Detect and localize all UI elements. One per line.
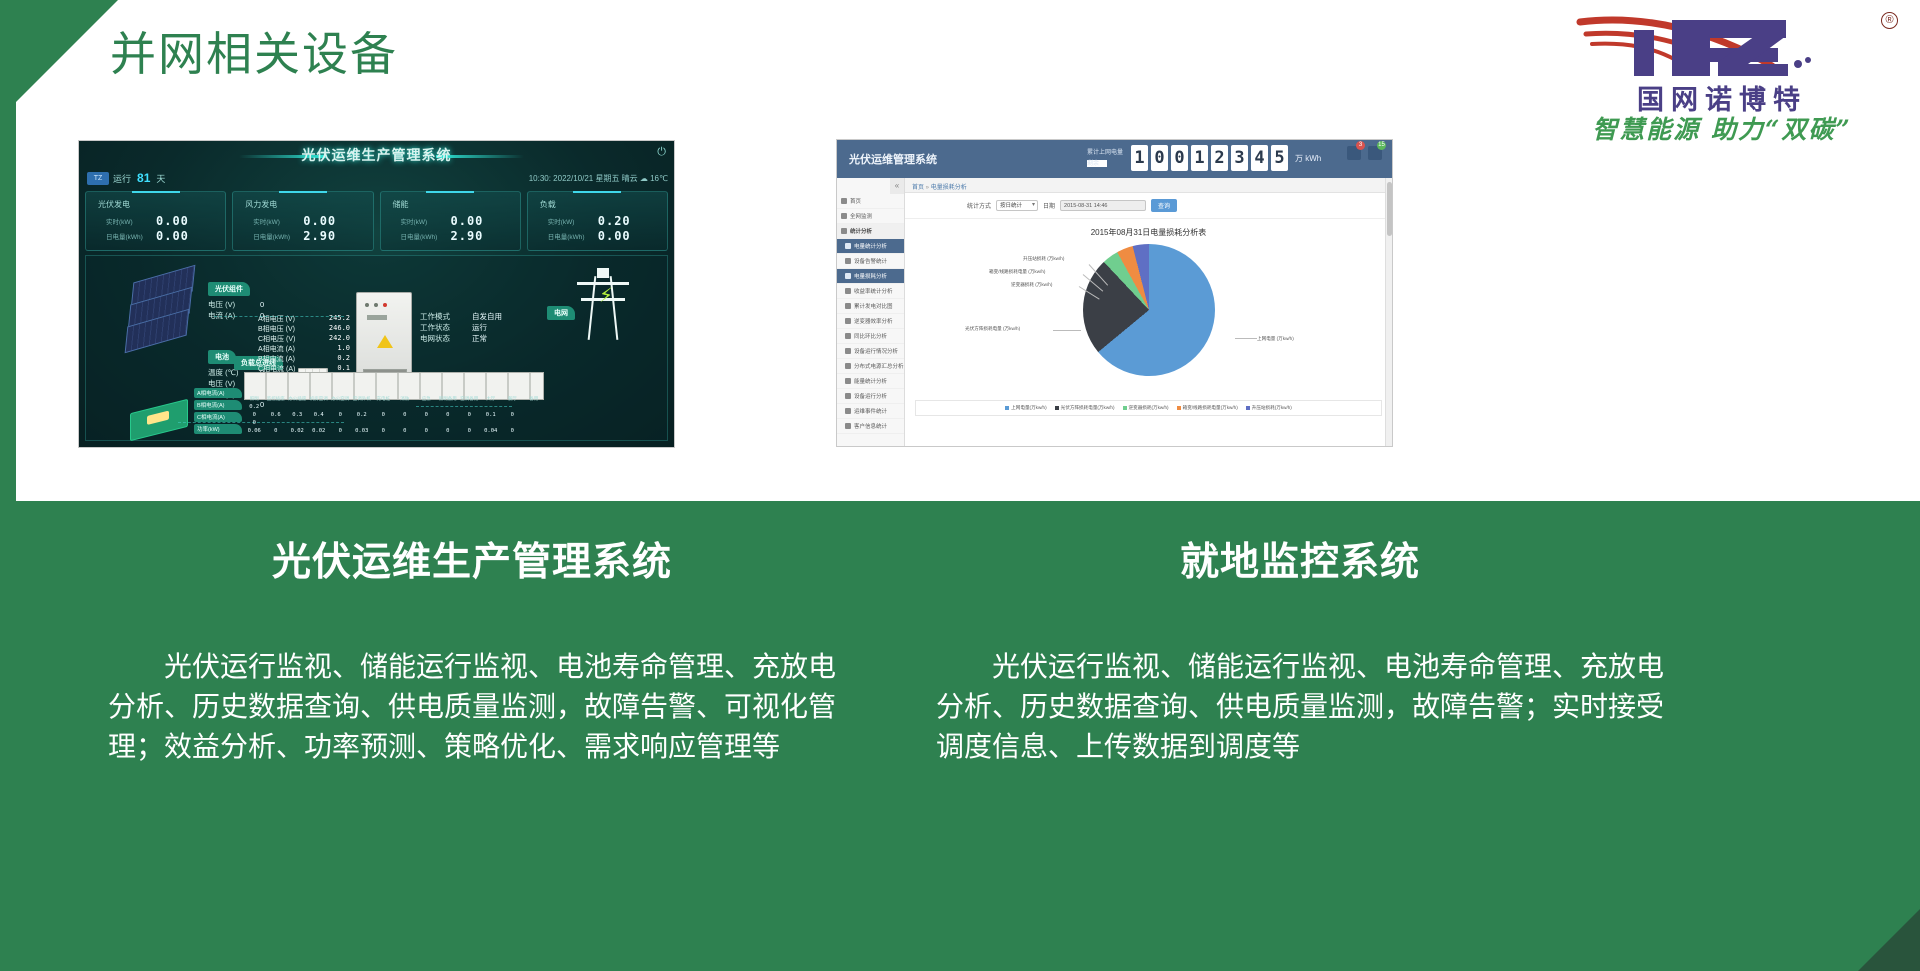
- bullet-icon: [845, 333, 851, 339]
- sidebar-item-label: 全网监测: [850, 212, 872, 220]
- home-icon: [841, 198, 847, 204]
- bottom-column-body: 光伏运行监视、储能运行监视、电池寿命管理、充放电分析、历史数据查询、供电质量监测…: [72, 647, 872, 766]
- branch-cell: [373, 404, 394, 410]
- branch-cell: 0.04: [481, 428, 502, 434]
- sidebar-item-label: 累计发电对比图: [854, 302, 893, 310]
- sidebar-item-home[interactable]: 首页: [837, 194, 904, 209]
- legend-swatch: [1246, 406, 1250, 410]
- chart-legend: 上网电量(万kw/h) 光伏方阵损耗电量(万kw/h) 逆变器损耗(万kw/h)…: [915, 400, 1382, 416]
- counter-unit: 万 kWh: [1295, 153, 1321, 164]
- sidebar-item-label: 收益率统计分析: [854, 287, 893, 295]
- branch-table-row: 0 0.6 0.3 0.4 0 0.2 0 0 0 0 0 0.1 0: [244, 412, 544, 418]
- kpi-value: 0.00: [156, 229, 189, 243]
- branch-cell: [395, 404, 416, 410]
- legend-item[interactable]: 逆变器损耗(万kw/h): [1123, 405, 1169, 411]
- branch-cell: 0: [502, 412, 523, 418]
- sidebar-item-label: 设备告警统计: [854, 257, 887, 265]
- bullet-icon: [845, 288, 851, 294]
- sidebar: « 首页 全网监测 统计分析: [837, 178, 905, 446]
- brand-chip: TZ: [87, 172, 109, 185]
- kpi-row: 实时(kW) 0.00: [253, 214, 372, 228]
- branch-cell: [438, 404, 459, 410]
- legend-swatch: [1123, 406, 1127, 410]
- branch-cell: 0: [459, 412, 480, 418]
- gv-key: C相电压 (V): [258, 334, 316, 344]
- counter-digit: 1: [1191, 145, 1208, 171]
- registered-trademark-icon: ®: [1881, 12, 1898, 29]
- scada-dashboard: 光伏运维生产管理系统 ⏻ TZ 运行 81 天 10:30: 2022/10/2…: [79, 141, 674, 447]
- screenshot-pv-scada: 光伏运维生产管理系统 ⏻ TZ 运行 81 天 10:30: 2022/10/2…: [78, 140, 675, 448]
- sidebar-item-label: 逆变器效率分析: [854, 317, 893, 325]
- counter-digit: 0: [1151, 145, 1168, 171]
- gv-value: 246.0: [324, 324, 350, 334]
- kpi-label: 实时(kW): [548, 216, 592, 226]
- legend-item[interactable]: 上网电量(万kw/h): [1005, 405, 1046, 411]
- kpi-card[interactable]: 风力发电 实时(kW) 0.00 日电量(kWh) 2.90: [232, 191, 373, 251]
- leader-line: [1053, 330, 1081, 331]
- tag-row: 电网状态 正常: [420, 333, 502, 344]
- branch-cell: [352, 420, 373, 426]
- bottom-column-left: 光伏运维生产管理系统 光伏运行监视、储能运行监视、电池寿命管理、充放电分析、历史…: [72, 531, 872, 766]
- tag-key: 工作状态: [420, 322, 468, 333]
- kpi-card-title: 负载: [540, 199, 667, 210]
- screenshot-pv-webapp: 光伏运维管理系统 累计上网电量 剩余 1 0 0 1 2 3 4 5: [836, 139, 1393, 447]
- kpi-row: 日电量(kWh) 0.00: [106, 229, 225, 243]
- bullet-icon: [845, 393, 851, 399]
- branch-cell: [524, 420, 545, 426]
- inverter-status-rows: 工作模式 自发自用 工作状态 运行 电网状态 正常: [420, 311, 502, 344]
- webapp-brand: 光伏运维管理系统: [849, 151, 937, 167]
- branch-cell: 0: [395, 412, 416, 418]
- warning-triangle-icon: [377, 335, 393, 348]
- branch-cell: [481, 404, 502, 410]
- branch-cell: [524, 428, 545, 434]
- kpi-card[interactable]: 储能 实时(kW) 0.00 日电量(kWh) 2.90: [380, 191, 521, 251]
- message-icon[interactable]: 3: [1347, 146, 1361, 160]
- legend-label: 逆变器损耗(万kw/h): [1129, 405, 1169, 411]
- clock-weather: 10:30: 2022/10/21 星期五 晴云 ☁ 16℃: [529, 173, 668, 184]
- kpi-row: 实时(kW) 0.00: [401, 214, 520, 228]
- tag-key: 工作模式: [420, 311, 468, 322]
- kpi-row: 实时(kW) 0.20: [548, 214, 667, 228]
- tag-value: 0: [260, 300, 264, 309]
- gv-row: A相电流 (A) 1.0: [258, 344, 350, 354]
- branch-table-row: 0.06 0 0.02 0.02 0 0.03 0 0 0 0 0 0.04 0: [244, 428, 544, 434]
- decorative-bottom-right-corner: [1858, 909, 1920, 971]
- kpi-value: 2.90: [303, 229, 336, 243]
- branch-header-cell: 备用: [524, 396, 545, 402]
- sidebar-item-energy-stats[interactable]: 电量统计分析: [837, 239, 904, 254]
- header-icon-group: 3 15: [1347, 146, 1382, 160]
- energy-counter: 累计上网电量 剩余 1 0 0 1 2 3 4 5 万 kWh: [1087, 145, 1321, 171]
- sidebar-item-label: 分布式电源汇总分析: [854, 362, 904, 370]
- bullet-icon: [845, 303, 851, 309]
- run-days-suffix: 天: [156, 172, 165, 185]
- counter-label: 累计上网电量 剩余: [1087, 149, 1127, 166]
- kpi-label: 实时(kW): [401, 216, 445, 226]
- branch-cell: 0: [438, 428, 459, 434]
- bottom-column-body: 光伏运行监视、储能运行监视、电池寿命管理、充放电分析、历史数据查询、供电质量监测…: [900, 647, 1700, 766]
- pie-label-upstream: 升压站损耗 (万kw/h): [1023, 256, 1064, 262]
- bottom-column-title: 就地监控系统: [900, 531, 1700, 587]
- branch-cell: [524, 412, 545, 418]
- branch-header-cell: 空调外机: [352, 396, 373, 402]
- bullet-icon: [845, 378, 851, 384]
- kpi-label: 日电量(kWh): [548, 231, 592, 241]
- sidebar-item-monitor[interactable]: 全网监测: [837, 209, 904, 224]
- sidebar-item-customer-stats[interactable]: 客户信息统计: [837, 419, 904, 434]
- bullet-icon: [845, 348, 851, 354]
- kpi-card[interactable]: 光伏发电 实时(kW) 0.00 日电量(kWh) 0.00: [85, 191, 226, 251]
- pv-module-tag-title: 光伏组件: [208, 282, 250, 296]
- branch-cell: [352, 404, 373, 410]
- kpi-row: 日电量(kWh) 2.90: [401, 229, 520, 243]
- branch-cell: 0.02: [309, 428, 330, 434]
- inverter-screen: [367, 315, 387, 320]
- branch-header-cell: 应急: [416, 396, 437, 402]
- tag-row: 工作状态 运行: [420, 322, 502, 333]
- gv-row: B相电流 (A) 0.2: [258, 354, 350, 364]
- kpi-card-row: 光伏发电 实时(kW) 0.00 日电量(kWh) 0.00 风力发电 实时(k…: [85, 191, 668, 251]
- branch-cell: 0.06: [244, 428, 265, 434]
- branch-cell: [416, 404, 437, 410]
- branch-table-header: 照明 监控插座 办公插座 机房空调 办公空调 空调外机 充电桩 消防 应急 照明…: [244, 396, 544, 402]
- branch-cell: [416, 420, 437, 426]
- vertical-scrollbar[interactable]: [1385, 178, 1392, 446]
- branch-cell: 0: [373, 412, 394, 418]
- bottom-column-title: 光伏运维生产管理系统: [72, 531, 872, 587]
- legend-swatch: [1005, 406, 1009, 410]
- gv-value: 1.0: [324, 344, 350, 354]
- sidebar-item-label: 能量统计分析: [854, 377, 887, 385]
- branch-cell: 0: [438, 412, 459, 418]
- filter-bar: 统计方式 按日统计 日期 2015-08-31 14:46 查询: [905, 193, 1392, 219]
- connection-line: [214, 316, 344, 317]
- mode-select[interactable]: 按日统计: [996, 200, 1038, 211]
- sidebar-group-statistics[interactable]: 统计分析: [837, 224, 904, 239]
- tag-key: 电网状态: [420, 333, 468, 344]
- company-slogan: 智慧能源 助力“双碳”: [1542, 110, 1902, 146]
- branch-row-labels: A相电流(A) B相电流(A) C相电流(A) 功率(kW): [194, 386, 242, 434]
- kpi-row: 日电量(kWh) 0.00: [548, 229, 667, 243]
- branch-cell: [373, 420, 394, 426]
- main-content: 首页 » 电量损耗分析 统计方式 按日统计 日期 2015-08-31 14:4…: [905, 178, 1392, 446]
- grid-tag-title: 电网: [547, 306, 575, 320]
- sidebar-item-inverter-efficiency[interactable]: 逆变器效率分析: [837, 314, 904, 329]
- query-button[interactable]: 查询: [1151, 199, 1177, 212]
- branch-cell: 0: [416, 412, 437, 418]
- kpi-value: 0.00: [451, 214, 484, 228]
- branch-cell: 0: [502, 428, 523, 434]
- branch-header-cell: 充电桩: [373, 396, 394, 402]
- kpi-card-title: 储能: [393, 199, 520, 210]
- sidebar-item-device-analysis[interactable]: 设备运行分析: [837, 389, 904, 404]
- tag-row: 电压 (V) 0: [208, 299, 264, 310]
- scrollbar-thumb[interactable]: [1387, 182, 1392, 236]
- pie-label-box-line: 箱变/线路损耗电量 (万kw/h): [989, 269, 1045, 275]
- branch-cell: 0: [459, 428, 480, 434]
- branch-cell: [459, 420, 480, 426]
- bullet-icon: [845, 363, 851, 369]
- counter-digit: 3: [1231, 145, 1248, 171]
- branch-header-cell: 空调备用: [459, 396, 480, 402]
- user-icon[interactable]: 15: [1368, 146, 1382, 160]
- kpi-label: 日电量(kWh): [401, 231, 445, 241]
- branch-cell: 0.3: [287, 412, 308, 418]
- branch-table-row: 0.2: [244, 404, 544, 410]
- kpi-card-title: 风力发电: [245, 199, 372, 210]
- pv-module-tag: 光伏组件 电压 (V) 0 电流 (A) 0: [208, 278, 264, 321]
- sidebar-item-label: 统计分析: [850, 227, 872, 235]
- sidebar-item-yield-stats[interactable]: 收益率统计分析: [837, 284, 904, 299]
- breadcrumb: 首页 » 电量损耗分析: [905, 178, 1392, 193]
- branch-cell: [287, 404, 308, 410]
- sidebar-item-label: 电量统计分析: [854, 242, 887, 250]
- branch-cell: 0: [330, 412, 351, 418]
- branch-header-cell: 办公插座: [287, 396, 308, 402]
- branch-header-cell: 照明备用: [438, 396, 459, 402]
- kpi-label: 实时(kW): [106, 216, 150, 226]
- branch-cell: 0.02: [287, 428, 308, 434]
- battery-tag-title: 电池: [208, 350, 236, 364]
- sidebar-item-distributed-summary[interactable]: 分布式电源汇总分析: [837, 359, 904, 374]
- branch-cell: [266, 420, 287, 426]
- branch-cell: [459, 404, 480, 410]
- sidebar-item-yoy-mom[interactable]: 同比环比分析: [837, 329, 904, 344]
- branch-header-cell: 大厅: [481, 396, 502, 402]
- branch-cell: [502, 420, 523, 426]
- date-label: 日期: [1043, 201, 1055, 210]
- branch-row-label: 功率(kW): [194, 424, 242, 434]
- scada-titlebar: 光伏运维生产管理系统 ⏻: [79, 141, 674, 171]
- bullet-icon: [845, 258, 851, 264]
- sidebar-item-label: 电量损耗分析: [854, 272, 887, 280]
- kpi-card[interactable]: 负载 实时(kW) 0.20 日电量(kWh) 0.00: [527, 191, 668, 251]
- run-days-prefix: 运行: [113, 172, 131, 185]
- sidebar-item-energy-analysis[interactable]: 能量统计分析: [837, 374, 904, 389]
- single-line-diagram: 光伏组件 电压 (V) 0 电流 (A) 0 电池: [85, 255, 668, 441]
- run-days-value: 81: [135, 171, 152, 185]
- branch-cell: 0.2: [352, 412, 373, 418]
- kpi-value: 0.20: [598, 214, 631, 228]
- chart-title: 2015年08月31日电量损耗分析表: [905, 227, 1392, 238]
- gv-row: C相电压 (V) 242.0: [258, 334, 350, 344]
- legend-label: 上网电量(万kw/h): [1011, 405, 1046, 411]
- counter-digit: 5: [1271, 145, 1288, 171]
- branch-cell: [330, 420, 351, 426]
- branch-table: 照明 监控插座 办公插座 机房空调 办公空调 空调外机 充电桩 消防 应急 照明…: [244, 396, 544, 434]
- webapp-header: 光伏运维管理系统 累计上网电量 剩余 1 0 0 1 2 3 4 5: [837, 140, 1392, 178]
- sidebar-item-cumulative-compare[interactable]: 累计发电对比图: [837, 299, 904, 314]
- branch-header-cell: 照明: [244, 396, 265, 402]
- counter-label-line2: 剩余: [1087, 160, 1107, 167]
- pie-label-inverter: 逆变器损耗 (万kw/h): [1011, 282, 1052, 288]
- battery-icon: [130, 399, 188, 441]
- branch-cell: [395, 420, 416, 426]
- legend-swatch: [1177, 406, 1181, 410]
- branch-cell: 0.2: [244, 404, 265, 410]
- branch-cell: 0: [373, 428, 394, 434]
- branch-cell: 0: [244, 412, 265, 418]
- branch-header-cell: 监控插座: [266, 396, 287, 402]
- slide-root: 并网相关设备 ® 国网诺博特 智慧能源 助力“双碳” 光伏运维生产管理系统 ⏻: [0, 0, 1920, 971]
- sidebar-item-device-operation[interactable]: 设备运行情况分析: [837, 344, 904, 359]
- kpi-row: 实时(kW) 0.00: [106, 214, 225, 228]
- scada-subbar: TZ 运行 81 天 10:30: 2022/10/21 星期五 晴云 ☁ 16…: [79, 169, 674, 189]
- kpi-card-title: 光伏发电: [98, 199, 225, 210]
- pie-chart: 升压站损耗 (万kw/h) 箱变/线路损耗电量 (万kw/h) 逆变器损耗 (万…: [905, 238, 1392, 396]
- branch-cell: 0.03: [352, 428, 373, 434]
- inverter-leds: [365, 303, 387, 307]
- branch-cell: [502, 404, 523, 410]
- pie-label-grid-energy: 上网电量 (万kw/h): [1257, 336, 1294, 342]
- branch-cell: 0: [416, 428, 437, 434]
- branch-cell: 0: [330, 428, 351, 434]
- tag-row: 工作模式 自发自用: [420, 311, 502, 322]
- sidebar-item-label: 同比环比分析: [854, 332, 887, 340]
- tag-key: 电压 (V): [208, 299, 256, 310]
- kpi-label: 日电量(kWh): [106, 231, 150, 241]
- branch-cell: 0: [395, 428, 416, 434]
- sidebar-items: 首页 全网监测 统计分析 电量统计分析: [837, 194, 904, 434]
- sidebar-item-label: 客户信息统计: [854, 422, 887, 430]
- legend-swatch: [1055, 406, 1059, 410]
- branch-table-row: 0: [244, 420, 544, 426]
- branch-row-label: B相电流(A): [194, 400, 242, 410]
- gv-key: A相电流 (A): [258, 344, 316, 354]
- gv-key: B相电压 (V): [258, 324, 316, 334]
- power-icon[interactable]: ⏻: [657, 146, 666, 159]
- run-days-badge: TZ 运行 81 天: [87, 171, 165, 185]
- transmission-tower-icon: ⚡: [575, 268, 631, 340]
- legend-item[interactable]: 箱变/线路损耗电量(万kw/h): [1177, 405, 1238, 411]
- bullet-icon: [845, 243, 851, 249]
- branch-header-cell: 消防: [395, 396, 416, 402]
- webapp-window: 光伏运维管理系统 累计上网电量 剩余 1 0 0 1 2 3 4 5: [837, 140, 1392, 446]
- pv-array-icon: [126, 274, 198, 342]
- branch-cell: [309, 404, 330, 410]
- bottom-column-right: 就地监控系统 光伏运行监视、储能运行监视、电池寿命管理、充放电分析、历史数据查询…: [900, 531, 1700, 766]
- branch-cell: 0: [266, 428, 287, 434]
- grid-tag: 电网: [547, 302, 575, 320]
- breadcrumb-home[interactable]: 首页: [912, 185, 924, 191]
- legend-item[interactable]: 光伏方阵损耗电量(万kw/h): [1055, 405, 1115, 411]
- pie-label-array-loss: 光伏方阵损耗电量 (万kw/h): [965, 326, 1020, 332]
- logo-mark-icon: [1572, 8, 1872, 86]
- counter-digit: 0: [1171, 145, 1188, 171]
- kpi-label: 实时(kW): [253, 216, 297, 226]
- pv-module-tag-rows: 电压 (V) 0 电流 (A) 0: [208, 299, 264, 321]
- bullet-icon: [845, 408, 851, 414]
- legend-label: 升压站损耗(万kw/h): [1252, 405, 1292, 411]
- legend-label: 箱变/线路损耗电量(万kw/h): [1183, 405, 1238, 411]
- kpi-value: 0.00: [156, 214, 189, 228]
- counter-label-line1: 累计上网电量: [1087, 150, 1123, 156]
- kpi-value: 0.00: [303, 214, 336, 228]
- branch-cell: [330, 404, 351, 410]
- decorative-corner-triangle: [0, 0, 118, 118]
- kpi-row: 日电量(kWh) 2.90: [253, 229, 372, 243]
- gv-key: B相电流 (A): [258, 354, 316, 364]
- page-title: 并网相关设备: [110, 26, 398, 84]
- branch-cell: [287, 420, 308, 426]
- user-badge: 15: [1377, 141, 1386, 150]
- sidebar-item-alarm-stats[interactable]: 设备告警统计: [837, 254, 904, 269]
- scada-title: 光伏运维生产管理系统: [79, 145, 674, 165]
- branch-header-cell: 办公空调: [330, 396, 351, 402]
- pie-chart-slices: [1083, 244, 1215, 376]
- legend-label: 光伏方阵损耗电量(万kw/h): [1061, 405, 1115, 411]
- bullet-icon: [845, 423, 851, 429]
- bottom-green-panel: 光伏运维生产管理系统 光伏运行监视、储能运行监视、电池寿命管理、充放电分析、历史…: [0, 501, 1920, 971]
- breadcrumb-current: 电量损耗分析: [931, 185, 967, 191]
- counter-digits: 1 0 0 1 2 3 4 5: [1131, 145, 1288, 171]
- branch-cell: 0.4: [309, 412, 330, 418]
- tag-value: 自发自用: [472, 311, 502, 322]
- branch-header-cell: 餐厅: [502, 396, 523, 402]
- sidebar-item-label: 设备运行情况分析: [854, 347, 898, 355]
- date-input[interactable]: 2015-08-31 14:46: [1060, 200, 1146, 211]
- tag-value: 运行: [472, 322, 487, 333]
- branch-cell: 0: [244, 420, 265, 426]
- branch-cell: [266, 404, 287, 410]
- leader-line: [1235, 338, 1257, 339]
- chart-icon: [841, 228, 847, 234]
- gv-value: 242.0: [324, 334, 350, 344]
- kpi-value: 0.00: [598, 229, 631, 243]
- branch-row-label: A相电流(A): [194, 388, 242, 398]
- sidebar-item-label: 首页: [850, 197, 861, 205]
- sidebar-item-label: 运维事件统计: [854, 407, 887, 415]
- inverter-status-tag: 工作模式 自发自用 工作状态 运行 电网状态 正常: [420, 308, 502, 344]
- counter-digit: 2: [1211, 145, 1228, 171]
- branch-cell: 0.1: [481, 412, 502, 418]
- branch-cell: 0.6: [266, 412, 287, 418]
- bullet-icon: [845, 273, 851, 279]
- gv-row: B相电压 (V) 246.0: [258, 324, 350, 334]
- sidebar-item-event-stats[interactable]: 运维事件统计: [837, 404, 904, 419]
- company-logo: ® 国网诺博特 智慧能源 助力“双碳”: [1512, 6, 1912, 138]
- message-badge: 3: [1356, 141, 1365, 150]
- branch-cell: [309, 420, 330, 426]
- gv-value: 0.2: [324, 354, 350, 364]
- branch-cell: [481, 420, 502, 426]
- branch-cell: [524, 404, 545, 410]
- mode-label: 统计方式: [967, 201, 991, 210]
- tag-value: 正常: [472, 333, 487, 344]
- breadcrumb-separator: »: [924, 185, 931, 191]
- kpi-value: 2.90: [451, 229, 484, 243]
- kpi-label: 日电量(kWh): [253, 231, 297, 241]
- sidebar-item-loss-analysis[interactable]: 电量损耗分析: [837, 269, 904, 284]
- sidebar-collapse-icon[interactable]: «: [890, 178, 904, 194]
- sidebar-item-label: 设备运行分析: [854, 392, 887, 400]
- branch-header-cell: 机房空调: [309, 396, 330, 402]
- branch-cell: [438, 420, 459, 426]
- monitor-icon: [841, 213, 847, 219]
- legend-item[interactable]: 升压站损耗(万kw/h): [1246, 405, 1292, 411]
- counter-digit: 4: [1251, 145, 1268, 171]
- counter-digit: 1: [1131, 145, 1148, 171]
- bullet-icon: [845, 318, 851, 324]
- branch-row-label: C相电流(A): [194, 412, 242, 422]
